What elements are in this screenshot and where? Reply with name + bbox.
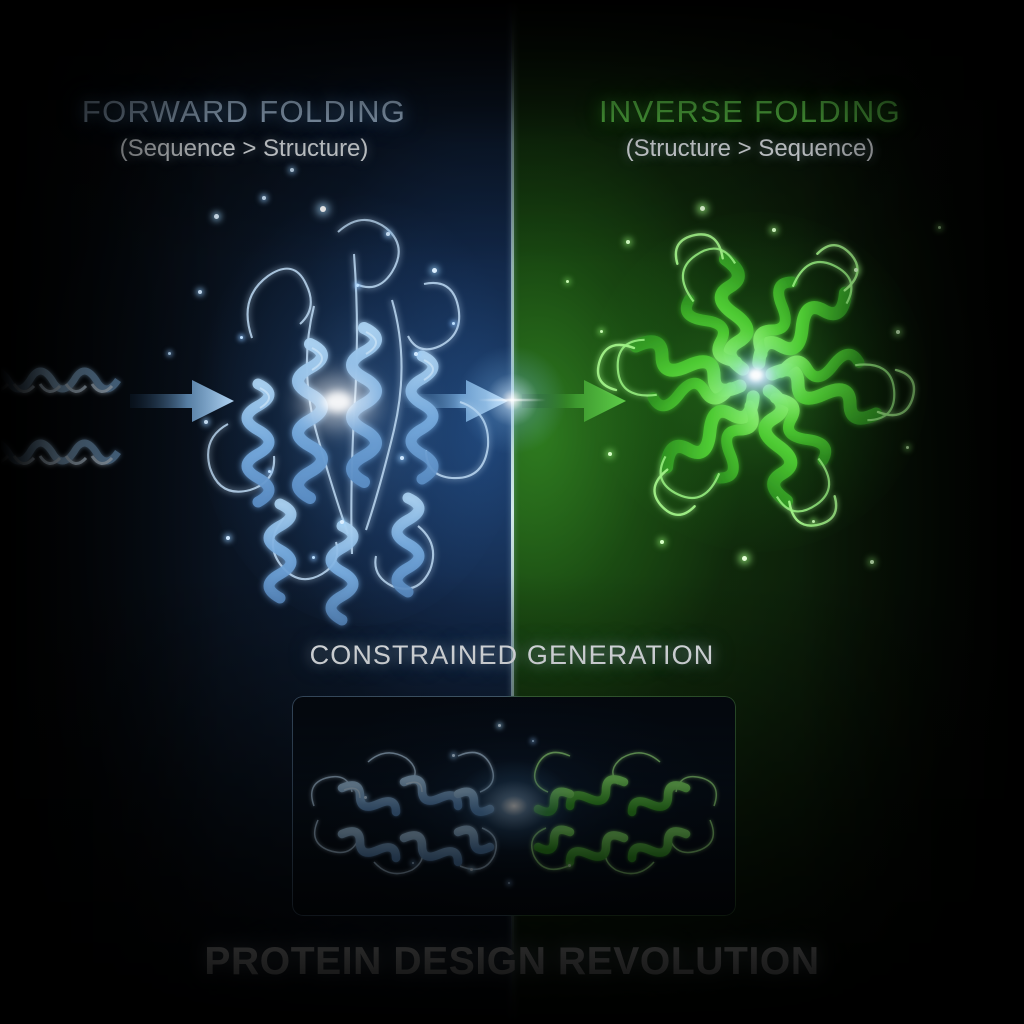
left-panel-header: FORWARD FOLDING (Sequence > Structure)	[14, 96, 474, 163]
page-title: PROTEIN DESIGN REVOLUTION	[0, 940, 1024, 984]
inverse-folding-subtitle: (Structure > Sequence)	[520, 135, 980, 163]
center-flare	[512, 400, 513, 401]
constrained-generation-label: CONSTRAINED GENERATION	[0, 640, 1024, 671]
forward-folding-title: FORWARD FOLDING	[14, 96, 474, 129]
inset-center-flare	[514, 806, 515, 807]
right-panel-header: INVERSE FOLDING (Structure > Sequence)	[520, 96, 980, 163]
diagram-canvas: FORWARD FOLDING (Sequence > Structure) I…	[0, 0, 1024, 1024]
designed-protein-green	[586, 210, 926, 550]
forward-folding-subtitle: (Sequence > Structure)	[14, 135, 474, 163]
inverse-folding-title: INVERSE FOLDING	[520, 96, 980, 129]
